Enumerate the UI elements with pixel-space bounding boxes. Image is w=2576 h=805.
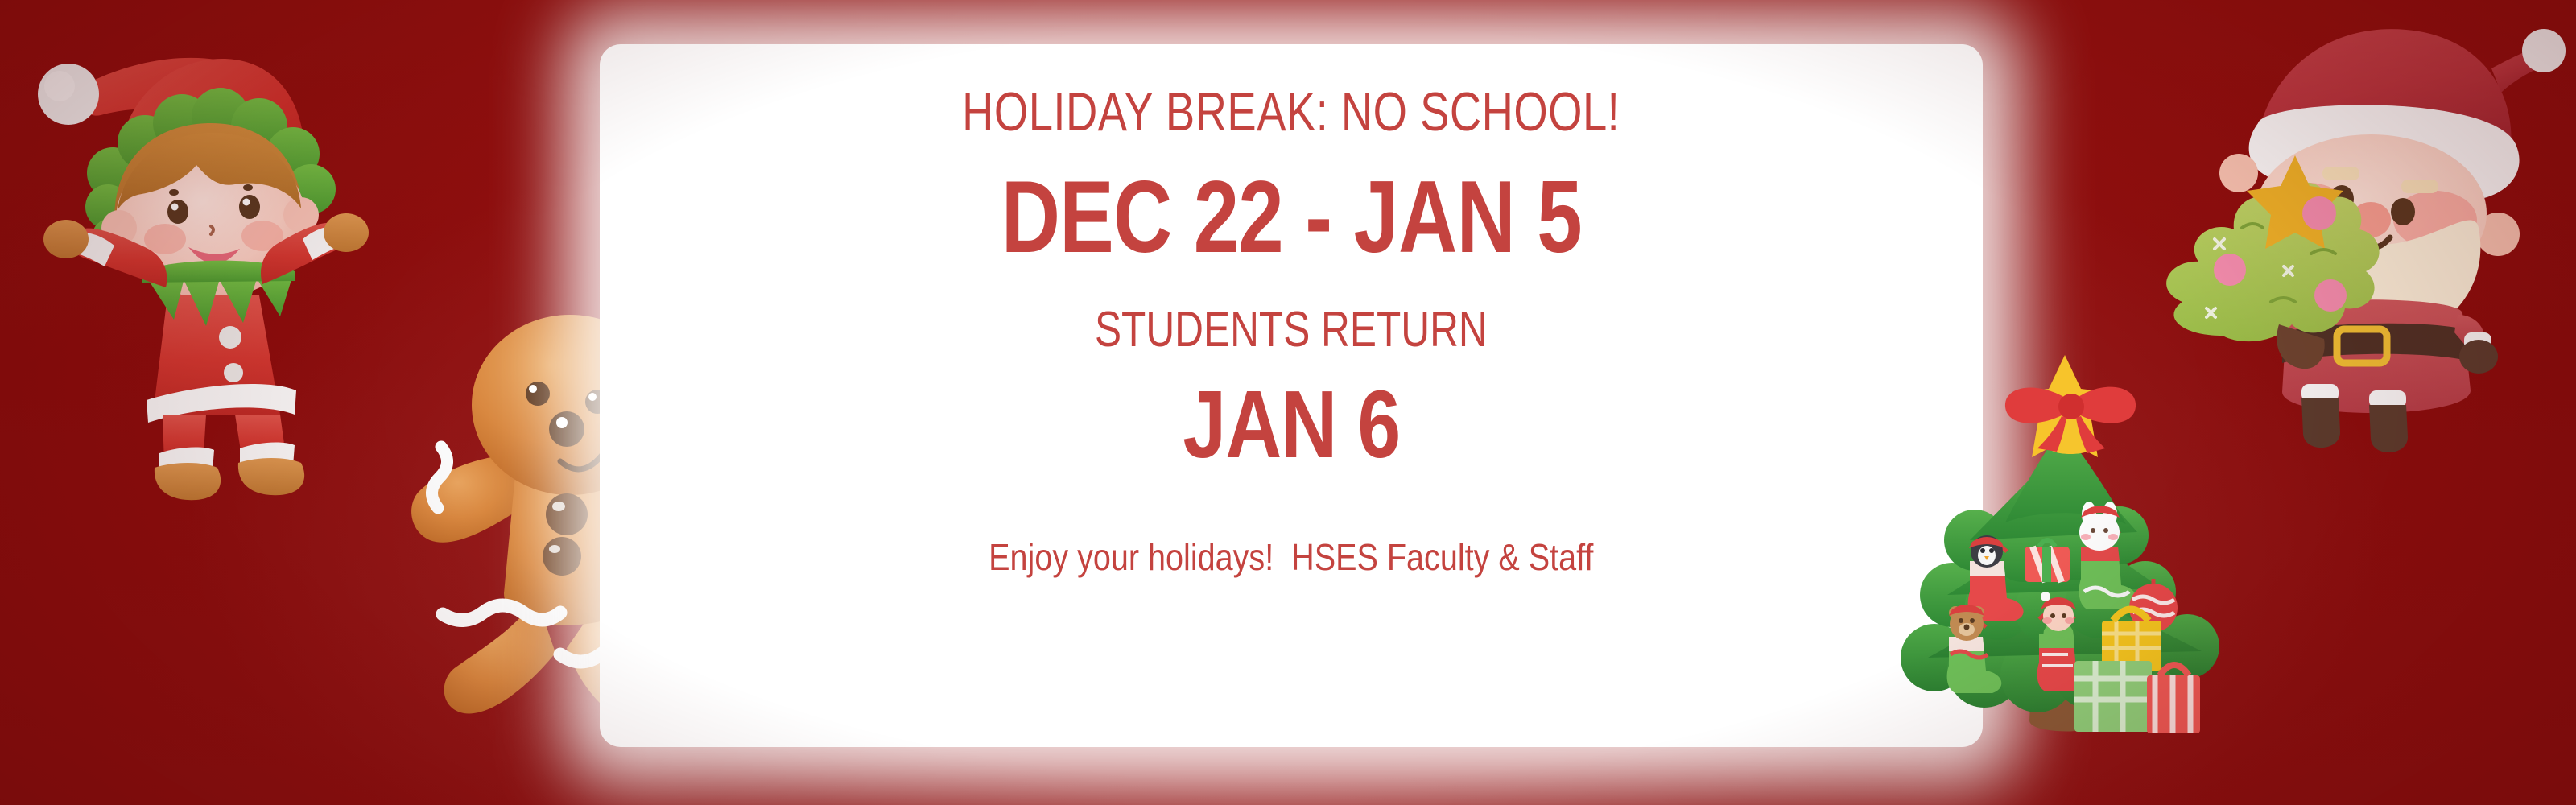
- christmas-tree-illustration: [1896, 350, 2242, 745]
- tree-bow-knot: [2058, 394, 2084, 419]
- elf-boot-left: [155, 463, 221, 500]
- gingerbread-eye-left: [526, 382, 550, 406]
- tagline-faculty-staff: Enjoy your holidays! HSES Faculty & Staf…: [989, 539, 1593, 576]
- santa-boot-right: [2369, 405, 2408, 452]
- santa-mitten-right: [2459, 340, 2498, 374]
- elf-button-2: [224, 363, 243, 382]
- holiday-break-banner: HOLIDAY BREAK: NO SCHOOL! DEC 22 - JAN 5…: [0, 0, 2576, 805]
- return-date-jan6: JAN 6: [1183, 378, 1400, 473]
- tree-ornament-pink-3: [2314, 279, 2347, 312]
- santa-eye-right: [2391, 198, 2415, 225]
- elf-eye-left: [167, 200, 188, 224]
- elf-eye-right: [239, 195, 260, 219]
- message-block: HOLIDAY BREAK: NO SCHOOL! DEC 22 - JAN 5…: [600, 44, 1983, 747]
- elf-mitten-left: [43, 220, 89, 258]
- santa-boot-left: [2301, 398, 2340, 448]
- santa-hat-pompom: [2522, 29, 2566, 72]
- elf-boot-right: [238, 458, 304, 495]
- heading-holiday-break: HOLIDAY BREAK: NO SCHOOL!: [962, 85, 1620, 139]
- tree-ornament-pink-2: [2214, 254, 2246, 286]
- elf-mitten-right: [324, 213, 369, 252]
- tree-ornament-pink-1: [2302, 196, 2336, 230]
- elf-girl-illustration: [24, 36, 346, 503]
- date-range-dec22-jan5: DEC 22 - JAN 5: [1001, 166, 1581, 268]
- subheading-students-return: STUDENTS RETURN: [1095, 305, 1488, 355]
- elf-button-1: [219, 326, 242, 349]
